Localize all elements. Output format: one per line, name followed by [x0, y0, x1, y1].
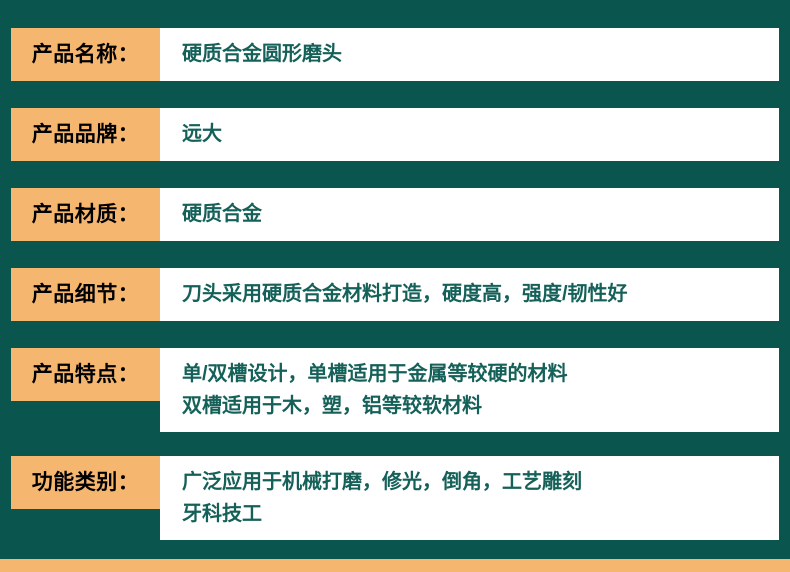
spec-label-function-category: 功能类别：	[11, 456, 160, 509]
spec-row-function-category: 功能类别： 广泛应用于机械打磨，修光，倒角，工艺雕刻 牙科技工	[11, 456, 779, 540]
spec-value-product-name: 硬质合金圆形磨头	[160, 28, 779, 81]
spec-value-line: 双槽适用于木，塑，铝等较软材料	[182, 390, 765, 422]
bottom-accent-bar	[0, 559, 790, 572]
spec-row-product-name: 产品名称： 硬质合金圆形磨头	[11, 28, 779, 81]
spec-row-product-brand: 产品品牌： 远大	[11, 108, 779, 161]
spec-value-product-material: 硬质合金	[160, 188, 779, 241]
spec-value-line: 牙科技工	[182, 498, 765, 530]
spec-label-product-features: 产品特点：	[11, 348, 160, 401]
spec-value-line: 单/双槽设计，单槽适用于金属等较硬的材料	[182, 358, 765, 390]
spec-value-line: 广泛应用于机械打磨，修光，倒角，工艺雕刻	[182, 466, 765, 498]
spec-value-line: 远大	[182, 119, 765, 150]
spec-row-product-features: 产品特点： 单/双槽设计，单槽适用于金属等较硬的材料 双槽适用于木，塑，铝等较软…	[11, 348, 779, 432]
spec-row-product-material: 产品材质： 硬质合金	[11, 188, 779, 241]
spec-row-product-detail: 产品细节： 刀头采用硬质合金材料打造，硬度高，强度/韧性好	[11, 268, 779, 321]
spec-label-product-material: 产品材质：	[11, 188, 160, 241]
spec-value-product-features: 单/双槽设计，单槽适用于金属等较硬的材料 双槽适用于木，塑，铝等较软材料	[160, 348, 779, 432]
spec-label-product-brand: 产品品牌：	[11, 108, 160, 161]
spec-value-line: 刀头采用硬质合金材料打造，硬度高，强度/韧性好	[182, 279, 765, 310]
spec-value-line: 硬质合金	[182, 199, 765, 230]
spec-label-product-name: 产品名称：	[11, 28, 160, 81]
spec-value-function-category: 广泛应用于机械打磨，修光，倒角，工艺雕刻 牙科技工	[160, 456, 779, 540]
spec-label-product-detail: 产品细节：	[11, 268, 160, 321]
spec-value-product-brand: 远大	[160, 108, 779, 161]
spec-value-product-detail: 刀头采用硬质合金材料打造，硬度高，强度/韧性好	[160, 268, 779, 321]
product-spec-sheet: 产品名称： 硬质合金圆形磨头 产品品牌： 远大 产品材质： 硬质合金 产品细节：…	[0, 0, 790, 572]
spec-value-line: 硬质合金圆形磨头	[182, 39, 765, 70]
